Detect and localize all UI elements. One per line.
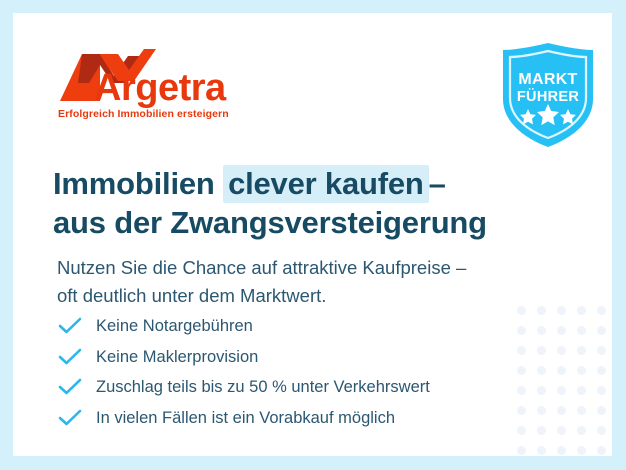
benefit-label: Keine Maklerprovision — [96, 348, 258, 366]
headline-line2: aus der Zwangsversteigerung — [53, 203, 487, 243]
dot-pattern-decoration — [512, 301, 612, 456]
banner-card: Argetra Erfolgreich Immobilien ersteiger… — [13, 13, 612, 456]
benefit-label: Zuschlag teils bis zu 50 % unter Verkehr… — [96, 378, 430, 396]
list-item: In vielen Fällen ist ein Vorabkauf mögli… — [58, 403, 430, 434]
list-item: Zuschlag teils bis zu 50 % unter Verkehr… — [58, 372, 430, 403]
svg-text:MARKT: MARKT — [518, 71, 577, 88]
headline: Immobilien clever kaufen– aus der Zwangs… — [53, 164, 487, 243]
svg-text:Erfolgreich Immobilien ersteig: Erfolgreich Immobilien ersteigern — [58, 108, 229, 120]
benefits-list: Keine Notargebühren Keine Maklerprovisio… — [58, 311, 430, 433]
headline-dash: – — [429, 166, 446, 201]
headline-part1: Immobilien — [53, 166, 215, 201]
svg-text:FÜHRER: FÜHRER — [517, 88, 579, 105]
check-icon — [58, 378, 82, 396]
market-leader-badge: MARKT FÜHRER — [498, 41, 598, 149]
list-item: Keine Notargebühren — [58, 311, 430, 342]
check-icon — [58, 317, 82, 335]
subheadline: Nutzen Sie die Chance auf attraktive Kau… — [57, 254, 466, 311]
promo-banner: Argetra Erfolgreich Immobilien ersteiger… — [0, 0, 626, 470]
subheadline-line1: Nutzen Sie die Chance auf attraktive Kau… — [57, 254, 466, 283]
benefit-label: Keine Notargebühren — [96, 317, 253, 335]
svg-text:Argetra: Argetra — [94, 67, 227, 109]
check-icon — [58, 348, 82, 366]
list-item: Keine Maklerprovision — [58, 342, 430, 373]
benefit-label: In vielen Fällen ist ein Vorabkauf mögli… — [96, 409, 395, 427]
argetra-logo[interactable]: Argetra Erfolgreich Immobilien ersteiger… — [56, 45, 256, 123]
headline-highlight: clever kaufen — [223, 165, 429, 203]
subheadline-line2: oft deutlich unter dem Marktwert. — [57, 282, 466, 311]
argetra-logo-icon: Argetra Erfolgreich Immobilien ersteiger… — [56, 45, 256, 123]
shield-icon: MARKT FÜHRER — [498, 41, 598, 149]
check-icon — [58, 409, 82, 427]
